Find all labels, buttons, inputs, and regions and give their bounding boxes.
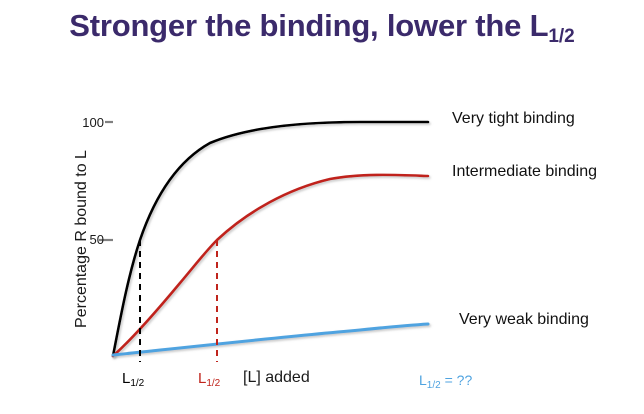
y-axis-title: Percentage R bound to L (73, 124, 91, 354)
l-half-marker-blue-text: L (419, 372, 427, 388)
l-half-marker-blue-subscript: 1/2 (427, 380, 441, 391)
curve-label-very-tight-binding: Very tight binding (452, 110, 575, 128)
l-half-marker-blue: L1/2 = ?? (419, 372, 472, 388)
curve-label-intermediate-binding: Intermediate binding (452, 163, 597, 181)
l-half-marker-red-subscript: 1/2 (206, 378, 220, 389)
l-half-marker-black-subscript: 1/2 (130, 378, 144, 389)
curve-very-weak-binding (113, 324, 428, 355)
l-half-marker-blue-suffix: = ?? (441, 372, 473, 388)
page-title: Stronger the binding, lower the L1/2 (0, 8, 644, 44)
x-axis-title: [L] added (243, 369, 310, 387)
binding-curve-chart: Stronger the binding, lower the L1/2 100… (0, 0, 644, 414)
l-half-marker-red: L1/2 (198, 370, 220, 387)
page-title-subscript: 1/2 (548, 26, 574, 47)
curve-label-very-weak-binding: Very weak binding (459, 311, 589, 329)
chart-canvas (0, 0, 644, 414)
l-half-marker-black: L1/2 (122, 370, 144, 387)
page-title-text: Stronger the binding, lower the L (69, 8, 548, 43)
